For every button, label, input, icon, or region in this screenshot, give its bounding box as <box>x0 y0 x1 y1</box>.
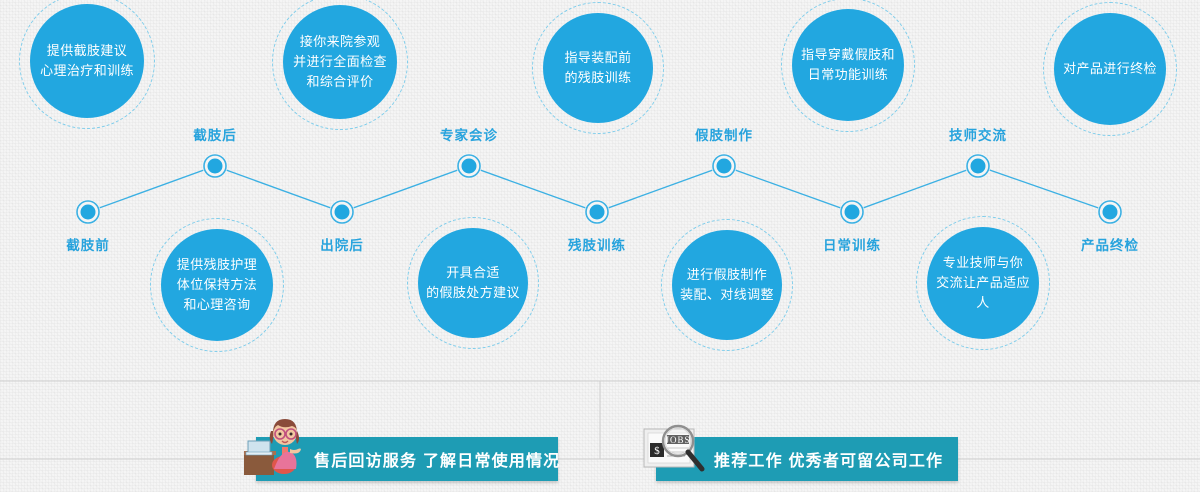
service-bubble-6[interactable]: 提供残肢护理 体位保持方法 和心理咨询 <box>161 229 273 341</box>
banner-text-1: 售后回访服务 了解日常使用情况 <box>314 447 560 471</box>
timeline-node-1[interactable] <box>76 200 101 225</box>
info-banner-2[interactable]: $ JOBS 推荐工作 优秀者可留公司工作 <box>656 437 958 481</box>
woman-at-desk-icon <box>240 413 306 479</box>
timeline-node-6[interactable] <box>712 154 737 179</box>
node-dot <box>590 205 605 220</box>
node-dot <box>335 205 350 220</box>
node-dot <box>1103 205 1118 220</box>
node-label-9: 产品终检 <box>1081 234 1139 254</box>
timeline-node-9[interactable] <box>1098 200 1123 225</box>
divider-group <box>0 381 1200 459</box>
node-label-5: 残肢训练 <box>568 234 626 254</box>
service-bubble-4[interactable]: 指导穿戴假肢和 日常功能训练 <box>792 9 904 121</box>
node-dot <box>845 205 860 220</box>
node-dot <box>462 159 477 174</box>
timeline-node-4[interactable] <box>457 154 482 179</box>
service-bubble-2[interactable]: 接你来院参观 并进行全面检查 和综合评价 <box>283 5 397 119</box>
node-dot <box>81 205 96 220</box>
timeline-node-8[interactable] <box>966 154 991 179</box>
service-bubble-7[interactable]: 开具合适 的假肢处方建议 <box>418 228 528 338</box>
node-label-8: 技师交流 <box>949 124 1007 144</box>
timeline-node-2[interactable] <box>203 154 228 179</box>
node-label-4: 专家会诊 <box>440 124 498 144</box>
svg-text:$: $ <box>654 445 660 457</box>
node-dot <box>208 159 223 174</box>
timeline-node-7[interactable] <box>840 200 865 225</box>
service-bubble-5[interactable]: 对产品进行终检 <box>1054 13 1166 125</box>
node-dot <box>971 159 986 174</box>
node-label-3: 出院后 <box>320 234 364 254</box>
node-label-1: 截肢前 <box>66 234 110 254</box>
timeline-node-5[interactable] <box>585 200 610 225</box>
service-bubble-9[interactable]: 专业技师与你 交流让产品适应人 <box>927 227 1039 339</box>
node-dot <box>717 159 732 174</box>
service-bubble-1[interactable]: 提供截肢建议 心理治疗和训练 <box>30 4 144 118</box>
node-label-2: 截肢后 <box>193 124 237 144</box>
timeline-node-3[interactable] <box>330 200 355 225</box>
info-banner-1[interactable]: 售后回访服务 了解日常使用情况 <box>256 437 558 481</box>
jobs-magnifier-icon: $ JOBS <box>640 413 706 479</box>
banner-text-2: 推荐工作 优秀者可留公司工作 <box>714 447 943 471</box>
node-label-6: 假肢制作 <box>695 124 753 144</box>
timeline-node-group <box>76 154 1123 225</box>
service-bubble-8[interactable]: 进行假肢制作 装配、对线调整 <box>672 230 782 340</box>
node-label-7: 日常训练 <box>823 234 881 254</box>
service-bubble-3[interactable]: 指导装配前 的残肢训练 <box>543 13 653 123</box>
